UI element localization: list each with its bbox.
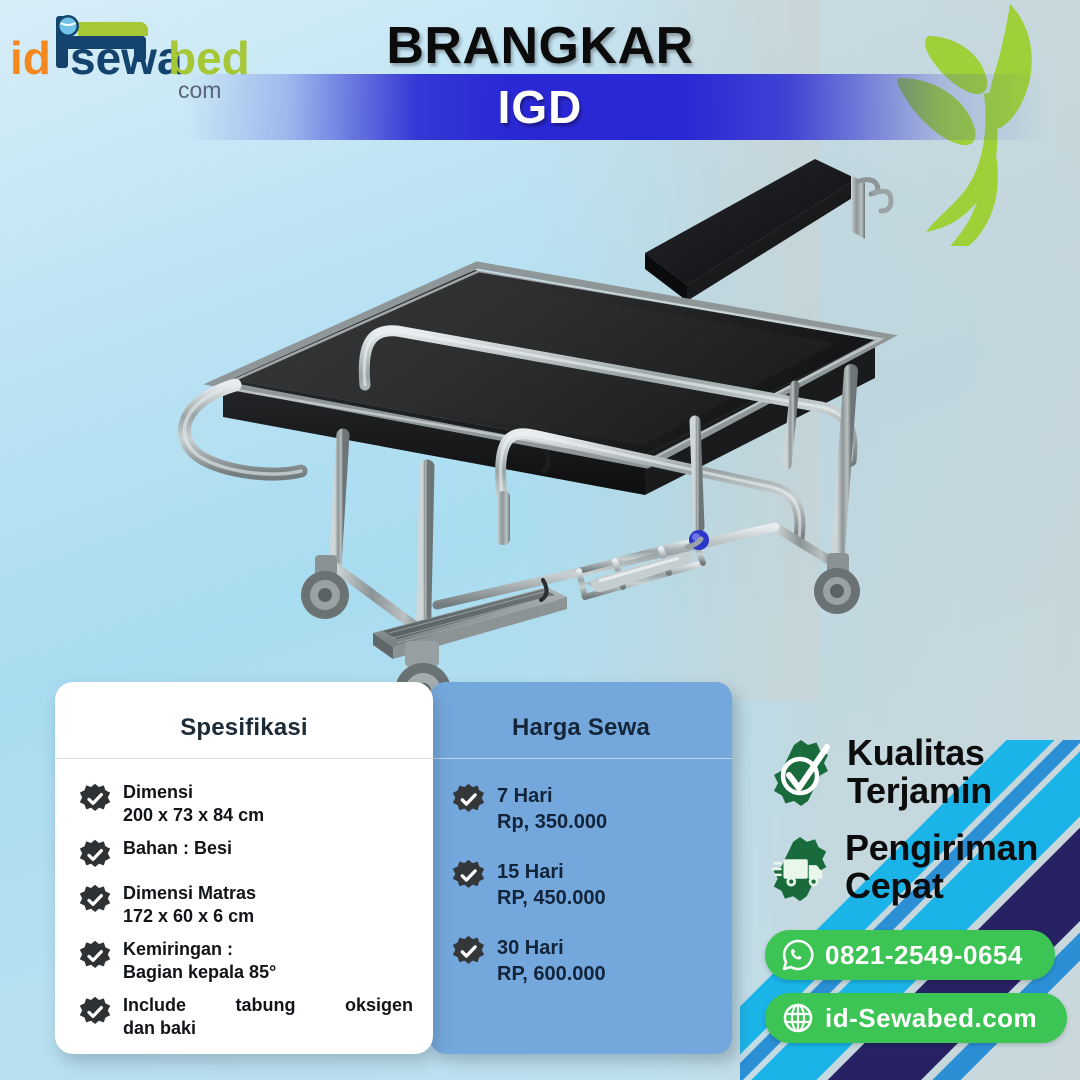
product-image [175,135,915,705]
check-badge-icon [79,940,111,972]
feature-delivery-line1: Pengiriman [845,827,1038,868]
spec-item-text: Include tabung oksigen dan baki [123,994,413,1039]
spec-item-text: Dimensi 200 x 73 x 84 cm [123,781,264,826]
price-duration: 15 Hari [497,861,564,883]
feature-quality-line2: Terjamin [847,770,992,811]
globe-icon [781,1001,815,1035]
price-amount: RP, 450.000 [497,885,606,911]
spec-value: 200 x 73 x 84 cm [123,804,264,827]
price-item-text: 7 Hari Rp, 350.000 [497,783,607,835]
check-badge-icon [79,839,111,871]
price-item-text: 30 Hari RP, 600.000 [497,935,606,987]
list-item: Dimensi 200 x 73 x 84 cm [79,781,415,826]
poster-canvas: id sewa bed com BRANGKAR IGD [0,0,1080,1080]
check-badge-icon [452,935,485,968]
list-item: Bahan : Besi [79,837,415,871]
spec-panel-heading: Spesifikasi [55,682,433,742]
list-item: 15 Hari RP, 450.000 [452,859,718,911]
check-badge-icon [452,783,485,816]
feature-quality-line1: Kualitas [847,732,985,773]
spec-item-text: Kemiringan : Bagian kepala 85° [123,938,276,983]
delivery-truck-badge-icon [765,835,835,905]
list-item: Dimensi Matras 172 x 60 x 6 cm [79,882,415,927]
price-amount: RP, 600.000 [497,961,606,987]
list-item: Include tabung oksigen dan baki [79,994,415,1039]
spec-value: 172 x 60 x 6 cm [123,905,256,928]
price-panel: Harga Sewa 7 Hari Rp, 350.000 [430,682,732,1054]
whatsapp-icon [781,938,815,972]
spec-list: Dimensi 200 x 73 x 84 cm Bahan : Besi [55,759,433,1039]
spec-label: Dimensi [123,782,193,802]
feature-delivery: Pengiriman Cepat [765,833,1038,905]
check-badge-icon [79,884,111,916]
feature-quality-text: Kualitas Terjamin [847,734,992,810]
page-title: BRANGKAR [0,16,1080,76]
spec-label: Kemiringan : [123,939,233,959]
price-duration: 30 Hari [497,937,564,959]
price-duration: 7 Hari [497,785,553,807]
quality-check-badge-icon [765,738,837,810]
website-url: id-Sewabed.com [825,1003,1037,1034]
list-item: 7 Hari Rp, 350.000 [452,783,718,835]
price-list: 7 Hari Rp, 350.000 15 Hari RP, 450.000 [430,759,732,987]
check-badge-icon [79,783,111,815]
feature-quality: Kualitas Terjamin [765,738,992,810]
check-badge-icon [79,996,111,1028]
spec-value: dan baki [123,1017,413,1040]
feature-delivery-line2: Cepat [845,865,944,906]
website-button[interactable]: id-Sewabed.com [765,993,1067,1043]
feature-delivery-text: Pengiriman Cepat [845,829,1038,905]
spec-item-text: Bahan : Besi [123,837,232,860]
spec-label: Dimensi Matras [123,883,256,903]
price-item-text: 15 Hari RP, 450.000 [497,859,606,911]
spec-value: Bagian kepala 85° [123,961,276,984]
page-subtitle: IGD [0,80,1080,134]
whatsapp-contact-button[interactable]: 0821-2549-0654 [765,930,1055,980]
whatsapp-number: 0821-2549-0654 [825,940,1023,971]
list-item: 30 Hari RP, 600.000 [452,935,718,987]
spec-label: Include tabung oksigen [123,995,413,1015]
price-amount: Rp, 350.000 [497,809,607,835]
spec-panel: Spesifikasi Dimensi 200 x 73 x 84 cm [55,682,433,1054]
spec-item-text: Dimensi Matras 172 x 60 x 6 cm [123,882,256,927]
spec-label: Bahan : Besi [123,838,232,858]
check-badge-icon [452,859,485,892]
price-panel-heading: Harga Sewa [430,682,732,742]
list-item: Kemiringan : Bagian kepala 85° [79,938,415,983]
